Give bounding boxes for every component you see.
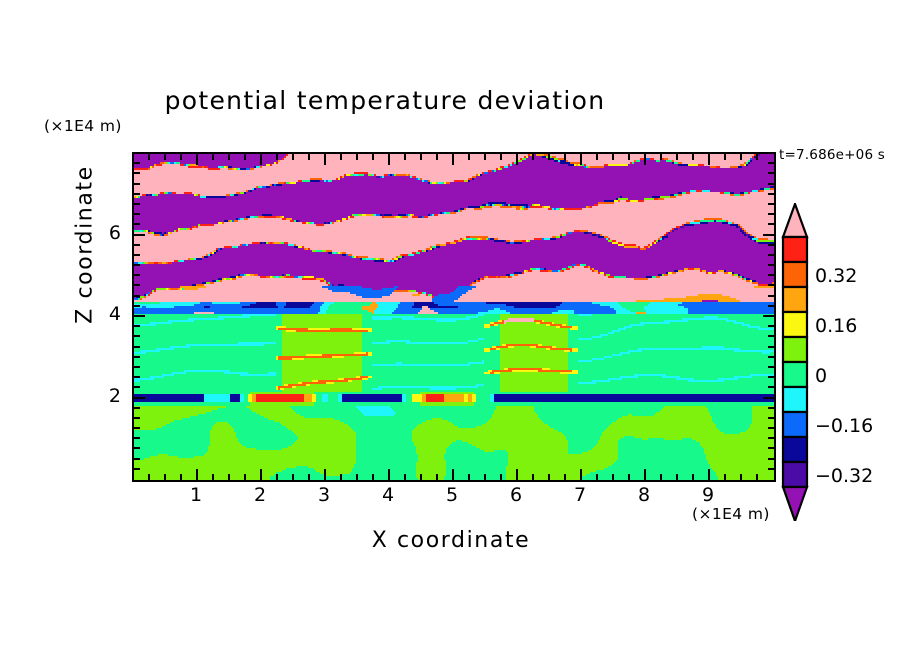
x-tick-bottom xyxy=(756,474,758,480)
colorbar-tick-label: 0.16 xyxy=(815,315,857,337)
contour-plot-area xyxy=(132,152,776,482)
x-tick-top xyxy=(596,154,598,160)
x-tick-top xyxy=(180,154,182,160)
colorbar-band xyxy=(783,337,807,362)
x-tick-top xyxy=(676,154,678,160)
x-tick-top xyxy=(692,154,694,160)
x-tick-label: 9 xyxy=(688,484,728,506)
y-tick-label: 6 xyxy=(95,222,121,244)
x-tick-top xyxy=(212,154,214,160)
y-tick-left xyxy=(134,254,140,256)
x-tick-top xyxy=(228,154,230,160)
x-tick-bottom xyxy=(612,474,614,480)
x-tick-bottom xyxy=(196,469,198,480)
y-tick-right xyxy=(768,203,774,205)
x-tick-bottom xyxy=(324,469,326,480)
colorbar-band xyxy=(783,287,807,312)
y-tick-left xyxy=(134,305,140,307)
x-tick-bottom xyxy=(212,474,214,480)
x-tick-top xyxy=(372,154,374,160)
x-tick-bottom xyxy=(676,474,678,480)
y-tick-right xyxy=(768,295,774,297)
y-tick-right xyxy=(763,234,774,236)
colorbar-band xyxy=(783,362,807,387)
x-tick-top xyxy=(276,154,278,160)
x-tick-top xyxy=(644,154,646,165)
x-tick-bottom xyxy=(660,474,662,480)
x-tick-top xyxy=(548,154,550,160)
y-tick-left xyxy=(134,407,140,409)
x-tick-label: 1 xyxy=(176,484,216,506)
x-tick-bottom xyxy=(452,469,454,480)
x-tick-bottom xyxy=(420,474,422,480)
y-tick-left xyxy=(134,458,140,460)
x-tick-bottom xyxy=(484,474,486,480)
x-tick-bottom xyxy=(596,474,598,480)
y-tick-right xyxy=(768,325,774,327)
y-tick-right xyxy=(768,407,774,409)
x-tick-bottom xyxy=(292,474,294,480)
y-tick-right xyxy=(768,244,774,246)
y-axis-title: Z coordinate xyxy=(73,145,98,345)
colorbar-swatches xyxy=(780,203,810,521)
x-tick-top xyxy=(708,154,710,165)
y-tick-left xyxy=(134,213,140,215)
x-tick-bottom xyxy=(276,474,278,480)
y-tick-right xyxy=(768,162,774,164)
y-tick-right xyxy=(768,223,774,225)
x-tick-bottom xyxy=(260,469,262,480)
x-tick-top xyxy=(292,154,294,160)
y-tick-left xyxy=(134,274,140,276)
x-tick-label: 5 xyxy=(432,484,472,506)
colorbar-band xyxy=(783,462,807,487)
y-tick-left xyxy=(134,162,140,164)
y-tick-right xyxy=(768,376,774,378)
x-tick-bottom xyxy=(644,469,646,480)
x-tick-bottom xyxy=(404,474,406,480)
y-tick-left xyxy=(134,346,140,348)
y-tick-right xyxy=(768,172,774,174)
x-tick-bottom xyxy=(164,474,166,480)
x-tick-bottom xyxy=(580,469,582,480)
x-tick-bottom xyxy=(692,474,694,480)
y-tick-right xyxy=(768,213,774,215)
x-tick-top xyxy=(340,154,342,160)
y-tick-left xyxy=(134,264,140,266)
x-tick-top xyxy=(500,154,502,160)
y-tick-right xyxy=(768,274,774,276)
x-axis-unit-label: (×1E4 m) xyxy=(692,505,770,523)
x-tick-bottom xyxy=(180,474,182,480)
x-tick-top xyxy=(740,154,742,160)
x-tick-top xyxy=(196,154,198,165)
y-tick-right xyxy=(768,284,774,286)
x-tick-bottom xyxy=(436,474,438,480)
x-tick-bottom xyxy=(548,474,550,480)
y-tick-right xyxy=(763,315,774,317)
x-tick-bottom xyxy=(740,474,742,480)
x-tick-top xyxy=(484,154,486,160)
colorbar-tick-label: 0 xyxy=(815,365,827,387)
x-tick-top xyxy=(660,154,662,160)
y-tick-left xyxy=(134,468,140,470)
y-tick-right xyxy=(768,447,774,449)
y-tick-left xyxy=(134,437,140,439)
x-tick-label: 2 xyxy=(240,484,280,506)
y-tick-left xyxy=(134,366,140,368)
x-tick-bottom xyxy=(228,474,230,480)
y-tick-right xyxy=(768,264,774,266)
x-tick-top xyxy=(324,154,326,165)
x-tick-top xyxy=(612,154,614,160)
x-tick-label: 7 xyxy=(560,484,600,506)
x-tick-bottom xyxy=(372,474,374,480)
time-annotation: t=7.686e+06 s xyxy=(779,147,885,163)
y-tick-left xyxy=(134,417,140,419)
y-tick-left xyxy=(134,335,140,337)
x-tick-top xyxy=(580,154,582,165)
x-tick-bottom xyxy=(308,474,310,480)
x-tick-top xyxy=(356,154,358,160)
x-tick-top xyxy=(532,154,534,160)
colorbar-band xyxy=(783,312,807,337)
scalar-field-canvas xyxy=(134,154,774,480)
colorbar-under-arrow xyxy=(783,487,807,521)
x-tick-top xyxy=(468,154,470,160)
x-tick-top xyxy=(260,154,262,165)
x-tick-bottom xyxy=(388,469,390,480)
y-tick-left xyxy=(134,315,145,317)
y-tick-right xyxy=(768,193,774,195)
y-tick-right xyxy=(768,366,774,368)
y-tick-left xyxy=(134,223,140,225)
x-tick-bottom xyxy=(340,474,342,480)
y-tick-right xyxy=(768,356,774,358)
x-tick-top xyxy=(724,154,726,160)
y-tick-left xyxy=(134,397,145,399)
x-tick-bottom xyxy=(244,474,246,480)
x-tick-top xyxy=(436,154,438,160)
y-tick-right xyxy=(768,427,774,429)
x-tick-top xyxy=(388,154,390,165)
x-tick-top xyxy=(148,154,150,160)
x-tick-label: 8 xyxy=(624,484,664,506)
x-tick-bottom xyxy=(724,474,726,480)
y-tick-right xyxy=(768,437,774,439)
x-tick-bottom xyxy=(628,474,630,480)
x-tick-top xyxy=(244,154,246,160)
y-tick-right xyxy=(768,335,774,337)
page-title: potential temperature deviation xyxy=(0,86,770,115)
colorbar-band xyxy=(783,437,807,462)
y-tick-left xyxy=(134,376,140,378)
x-tick-bottom xyxy=(708,469,710,480)
y-tick-left xyxy=(134,203,140,205)
colorbar xyxy=(780,203,810,521)
colorbar-tick-label: −0.32 xyxy=(815,465,873,487)
y-tick-right xyxy=(768,417,774,419)
x-tick-bottom xyxy=(468,474,470,480)
colorbar-tick-label: −0.16 xyxy=(815,415,873,437)
y-tick-right xyxy=(768,254,774,256)
x-tick-bottom xyxy=(516,469,518,480)
y-tick-left xyxy=(134,386,140,388)
x-tick-bottom xyxy=(356,474,358,480)
y-tick-right xyxy=(768,305,774,307)
y-tick-right xyxy=(768,183,774,185)
x-tick-label: 6 xyxy=(496,484,536,506)
x-tick-top xyxy=(308,154,310,160)
y-tick-left xyxy=(134,172,140,174)
x-tick-top xyxy=(420,154,422,160)
x-tick-bottom xyxy=(564,474,566,480)
y-tick-left xyxy=(134,325,140,327)
colorbar-tick-label: 0.32 xyxy=(815,265,857,287)
x-tick-label: 3 xyxy=(304,484,344,506)
x-tick-top xyxy=(564,154,566,160)
y-tick-left xyxy=(134,234,145,236)
x-tick-top xyxy=(516,154,518,165)
x-axis-title: X coordinate xyxy=(281,528,621,553)
colorbar-band xyxy=(783,412,807,437)
y-tick-left xyxy=(134,427,140,429)
y-tick-right xyxy=(763,397,774,399)
x-tick-top xyxy=(756,154,758,160)
y-tick-label: 2 xyxy=(95,385,121,407)
x-tick-bottom xyxy=(148,474,150,480)
y-tick-right xyxy=(768,468,774,470)
x-tick-label: 4 xyxy=(368,484,408,506)
colorbar-band xyxy=(783,387,807,412)
y-tick-left xyxy=(134,284,140,286)
y-tick-left xyxy=(134,244,140,246)
x-tick-bottom xyxy=(500,474,502,480)
x-tick-top xyxy=(164,154,166,160)
y-tick-right xyxy=(768,386,774,388)
y-tick-right xyxy=(768,346,774,348)
x-tick-top xyxy=(404,154,406,160)
colorbar-over-arrow xyxy=(783,204,807,237)
y-tick-left xyxy=(134,193,140,195)
y-tick-left xyxy=(134,447,140,449)
x-tick-top xyxy=(452,154,454,165)
colorbar-band xyxy=(783,237,807,262)
z-axis-unit-label: (×1E4 m) xyxy=(44,117,122,135)
y-tick-left xyxy=(134,183,140,185)
y-tick-right xyxy=(768,458,774,460)
colorbar-band xyxy=(783,262,807,287)
x-tick-bottom xyxy=(532,474,534,480)
y-tick-left xyxy=(134,295,140,297)
x-tick-top xyxy=(628,154,630,160)
y-tick-label: 4 xyxy=(95,303,121,325)
y-tick-left xyxy=(134,356,140,358)
